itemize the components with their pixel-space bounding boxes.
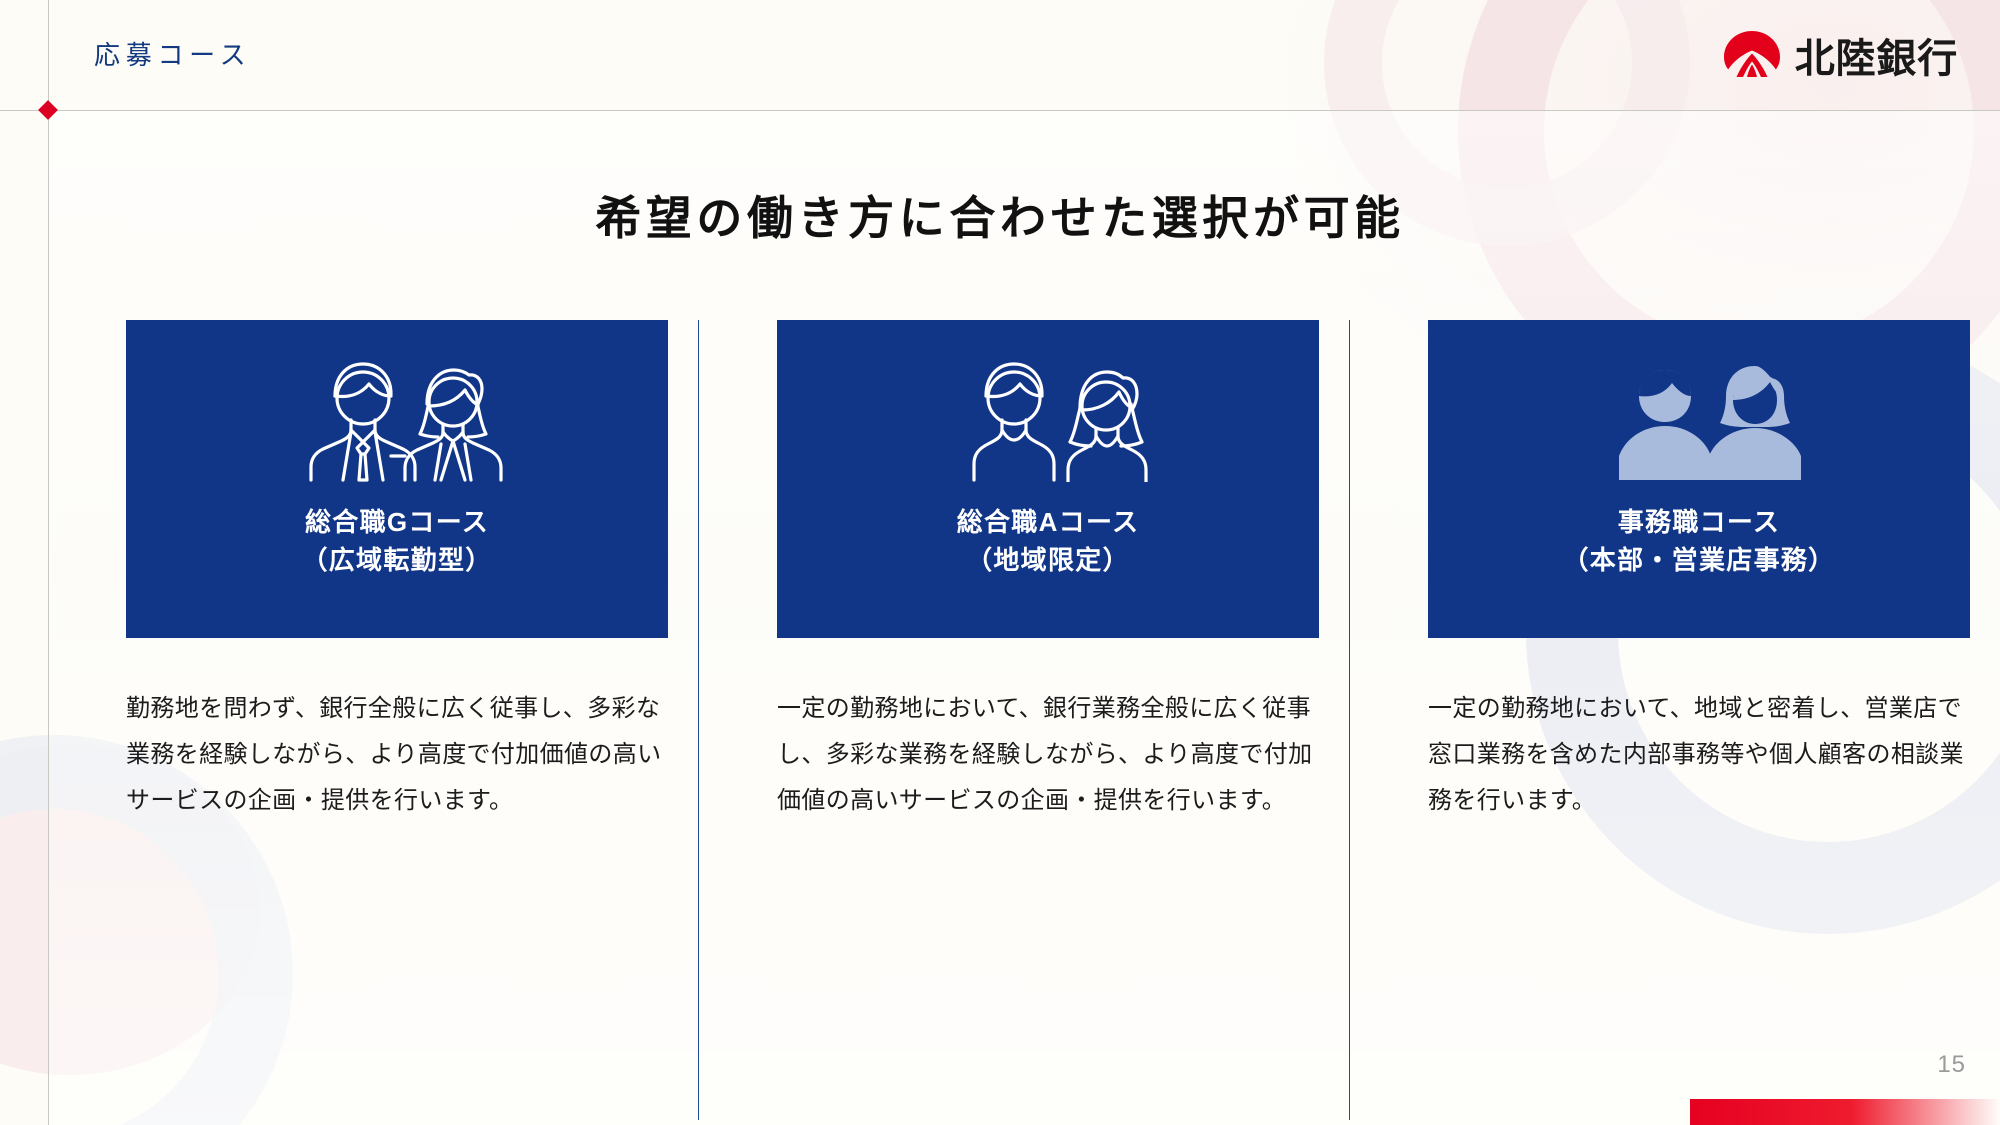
footer-red-accent-bar: [1690, 1099, 2000, 1125]
course-card-label-line2: （広域転勤型）: [301, 542, 492, 580]
course-card-clerical[interactable]: 事務職コース （本部・営業店事務）: [1428, 320, 1970, 638]
red-diamond-marker: [38, 100, 58, 120]
course-column-a: 総合職Aコース （地域限定） 一定の勤務地において、銀行業務全般に広く従事し、多…: [698, 320, 1349, 1120]
brand-logo-text: 北陸銀行: [1795, 26, 1958, 84]
course-columns: 総合職Gコース （広域転勤型） 勤務地を問わず、銀行全般に広く従事し、多彩な業務…: [48, 320, 2000, 1120]
course-card-label-clerical: 事務職コース （本部・営業店事務）: [1562, 504, 1835, 579]
hokuriku-bank-mark-icon: [1723, 30, 1781, 80]
course-column-g: 総合職Gコース （広域転勤型） 勤務地を問わず、銀行全般に広く従事し、多彩な業務…: [48, 320, 698, 1120]
page-title: 希望の働き方に合わせた選択が可能: [0, 182, 2000, 248]
section-eyebrow: 応募コース: [94, 35, 251, 72]
horizontal-guide-line: [0, 110, 2000, 111]
course-card-label-line1: 総合職Aコース: [957, 504, 1140, 542]
course-card-label-line1: 事務職コース: [1562, 504, 1835, 542]
course-description-g: 勤務地を問わず、銀行全般に広く従事し、多彩な業務を経験しながら、より高度で付加価…: [126, 686, 668, 824]
casual-man-and-woman-outline-icon: [928, 350, 1168, 482]
course-card-label-g: 総合職Gコース （広域転勤型）: [301, 504, 492, 579]
course-card-a[interactable]: 総合職Aコース （地域限定）: [777, 320, 1319, 638]
course-card-label-a: 総合職Aコース （地域限定）: [957, 504, 1140, 579]
course-column-clerical: 事務職コース （本部・営業店事務） 一定の勤務地において、地域と密着し、営業店で…: [1349, 320, 2000, 1120]
man-and-woman-silhouette-icon: [1579, 350, 1819, 482]
course-card-label-line1: 総合職Gコース: [301, 504, 492, 542]
brand-logo: 北陸銀行: [1723, 26, 1958, 84]
course-description-clerical: 一定の勤務地において、地域と密着し、営業店で窓口業務を含めた内部事務等や個人顧客…: [1428, 686, 1970, 824]
course-card-label-line2: （地域限定）: [957, 542, 1140, 580]
course-card-g[interactable]: 総合職Gコース （広域転勤型）: [126, 320, 668, 638]
slide-canvas: 応募コース 北陸銀行 希望の働き方に合わせた選択が可能: [0, 0, 2000, 1125]
business-man-and-woman-outline-icon: [277, 350, 517, 482]
course-description-a: 一定の勤務地において、銀行業務全般に広く従事し、多彩な業務を経験しながら、より高…: [777, 686, 1319, 824]
course-card-label-line2: （本部・営業店事務）: [1562, 542, 1835, 580]
page-number: 15: [1937, 1051, 1966, 1079]
